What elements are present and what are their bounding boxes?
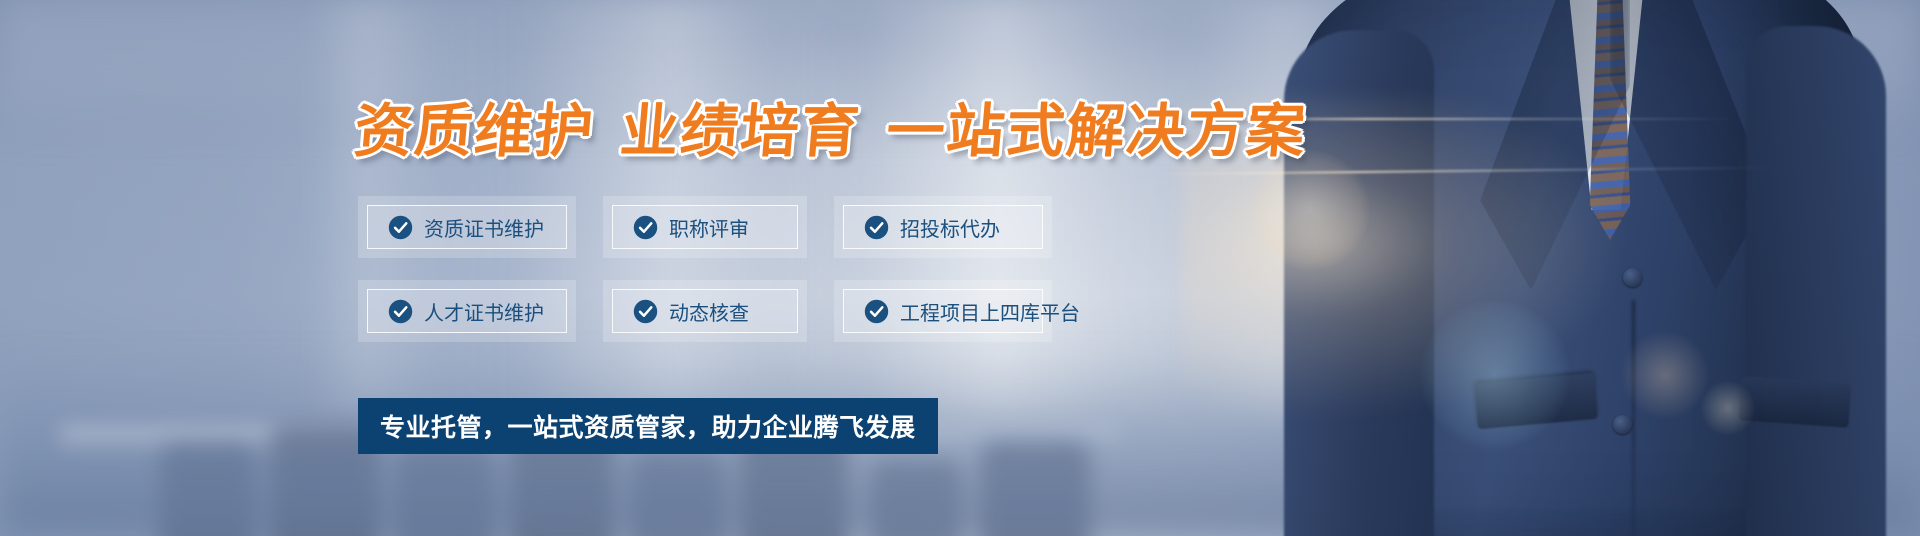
tagline-text: 专业托管，一站式资质管家，助力企业腾飞发展 (380, 408, 916, 444)
businessman-photo (1180, 0, 1920, 536)
feature-label: 资质证书维护 (424, 213, 544, 242)
feature-row-1: 资质证书维护 职称评审 (358, 196, 1079, 258)
check-circle-icon (633, 215, 658, 240)
feature-card-dynamic-verification[interactable]: 动态核查 (603, 280, 807, 342)
feature-card-bidding-agency[interactable]: 招投标代办 (834, 196, 1052, 258)
feature-label: 工程项目上四库平台 (900, 297, 1080, 326)
check-circle-icon (388, 215, 413, 240)
feature-grid: 资质证书维护 职称评审 (358, 196, 1079, 364)
banner-headline: 资质维护业绩培育一站式解决方案 (351, 84, 1310, 168)
tagline-ribbon: 专业托管，一站式资质管家，助力企业腾飞发展 (358, 398, 938, 454)
feature-card-talent-certificate[interactable]: 人才证书维护 (358, 280, 576, 342)
feature-label: 招投标代办 (900, 213, 1000, 242)
headline-part-3: 一站式解决方案 (884, 97, 1310, 165)
jacket-seam (1632, 300, 1635, 536)
check-circle-icon (633, 299, 658, 324)
banner-content: 资质维护业绩培育一站式解决方案 资质证书维护 (0, 0, 1200, 536)
feature-card-title-evaluation[interactable]: 职称评审 (603, 196, 807, 258)
check-circle-icon (388, 299, 413, 324)
check-circle-icon (864, 215, 889, 240)
check-circle-icon (864, 299, 889, 324)
headline-part-1: 资质维护 (352, 97, 598, 165)
feature-card-qualification-certificate[interactable]: 资质证书维护 (358, 196, 576, 258)
feature-label: 职称评审 (669, 213, 749, 242)
feature-card-four-database-platform[interactable]: 工程项目上四库平台 (834, 280, 1052, 342)
jacket-button-bottom (1613, 415, 1632, 434)
promo-banner: 资质维护业绩培育一站式解决方案 资质证书维护 (0, 0, 1920, 536)
jacket-button-top (1623, 268, 1642, 287)
feature-row-2: 人才证书维护 动态核查 (358, 280, 1079, 342)
feature-label: 动态核查 (669, 297, 749, 326)
jacket-pocket-right (1739, 376, 1852, 428)
headline-part-2: 业绩培育 (618, 97, 864, 165)
arm-right (1746, 26, 1886, 536)
feature-label: 人才证书维护 (424, 297, 544, 326)
